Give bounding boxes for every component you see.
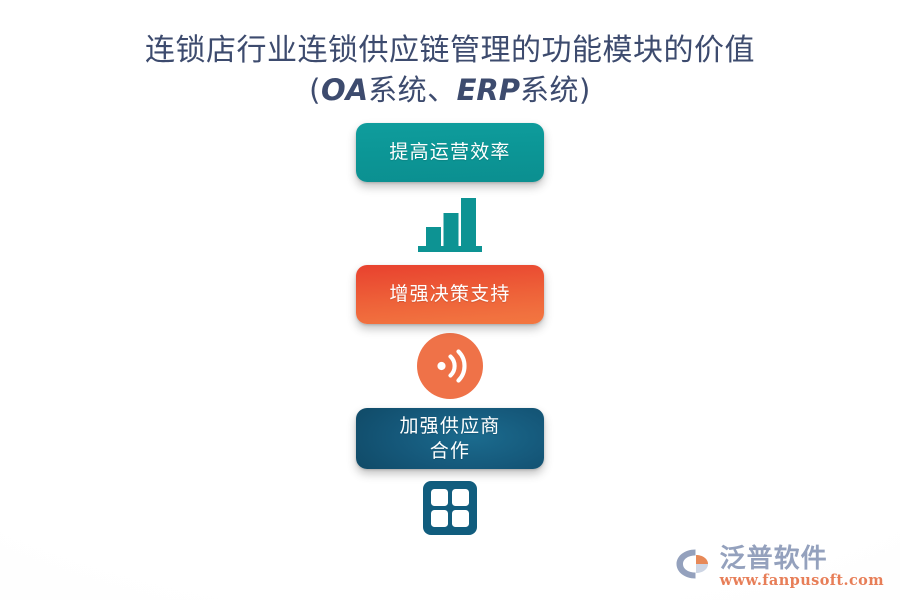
- flow-node-strengthen-supplier-cooperation[interactable]: 加强供应商 合作: [356, 408, 544, 469]
- watermark-url: www.fanpusoft.com: [720, 574, 884, 589]
- flow-node-supplier-label-line-2: 合作: [430, 440, 470, 462]
- watermark-text-group: 泛普软件 www.fanpusoft.com: [720, 546, 884, 589]
- value-flow-diagram: 提高运营效率 增强决策支持: [0, 123, 900, 546]
- page-title: 连锁店行业连锁供应链管理的功能模块的价值 (OA系统、ERP系统): [0, 31, 900, 110]
- flow-node-improve-efficiency[interactable]: 提高运营效率: [356, 123, 544, 182]
- fanpu-logo-icon: [675, 547, 715, 586]
- page-title-word-system-1: 系统、: [368, 73, 457, 107]
- bar-chart-icon: [414, 182, 486, 265]
- page-title-term-oa: OA: [321, 73, 368, 107]
- page-title-line-1: 连锁店行业连锁供应链管理的功能模块的价值: [0, 31, 900, 71]
- flow-node-strengthen-supplier-cooperation-label: 加强供应商 合作: [393, 414, 506, 464]
- flow-node-enhance-decision-support[interactable]: 增强决策支持: [356, 265, 544, 324]
- page-title-paren-close: ): [579, 73, 591, 107]
- page-title-paren-open: (: [309, 73, 321, 107]
- flow-node-improve-efficiency-label: 提高运营效率: [383, 140, 516, 165]
- page-title-term-erp: ERP: [457, 73, 520, 107]
- watermark: 泛普软件 www.fanpusoft.com: [675, 546, 884, 589]
- page-title-line-2: (OA系统、ERP系统): [0, 71, 900, 110]
- watermark-brand-name: 泛普软件: [720, 546, 828, 572]
- broadcast-signal-icon: [417, 324, 483, 408]
- slide-canvas: 连锁店行业连锁供应链管理的功能模块的价值 (OA系统、ERP系统) 提高运营效率…: [0, 0, 900, 600]
- page-title-word-system-2: 系统: [520, 73, 579, 107]
- grid-four-squares-icon: [423, 469, 477, 546]
- flow-node-supplier-label-line-1: 加强供应商: [399, 415, 500, 437]
- flow-node-enhance-decision-support-label: 增强决策支持: [383, 282, 516, 307]
